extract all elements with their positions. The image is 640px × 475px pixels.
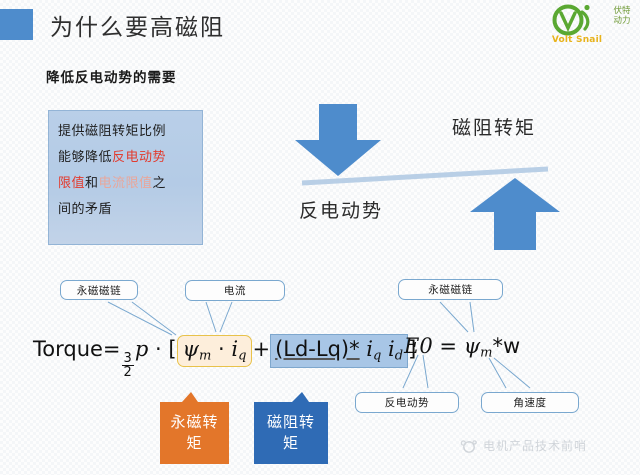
title-accent-square (0, 9, 33, 40)
fraction-numerator: 3 (122, 352, 134, 366)
info-panel: 提供磁阻转矩比例 能够降低反电动势 限值和电流限值之 间的矛盾 (48, 110, 203, 245)
callout-pm-flux-left: 永磁磁链 (60, 280, 138, 300)
reluctance-torque-term: (Ld-Lq)* iq id (270, 334, 408, 368)
slide-canvas: 为什么要高磁阻 降低反电动势的需要 Volt Snail 伏特动力 提供磁阻转矩… (0, 0, 640, 475)
fraction-denominator: 2 (122, 366, 134, 379)
torque-lhs: Torque= (33, 337, 121, 361)
e0-symbol: E0 (404, 334, 433, 358)
emf-star-w: *w (493, 334, 521, 358)
iq2-subscript: q (373, 349, 381, 364)
callout-current: 电流 (185, 280, 285, 301)
watermark-label: 电机产品技术前哨 (483, 437, 587, 454)
callout-pm-flux-right: 永磁磁链 (398, 279, 503, 300)
psi-subscript: m (199, 349, 211, 364)
id-subscript: d (395, 349, 403, 364)
balance-beam (300, 166, 550, 186)
torque-plus: + (252, 337, 270, 361)
ld-lq-symbol: (Ld-Lq)* (275, 337, 360, 361)
flag-reluctance-torque: 磁阻转矩 (254, 392, 328, 464)
label-reluctance-torque: 磁阻转矩 (452, 113, 536, 140)
torque-fraction: 32 (122, 352, 134, 380)
flag-reluctance-torque-label: 磁阻转矩 (254, 402, 328, 464)
id-symbol: i (388, 337, 395, 361)
torque-formula: Torque=32p · [ψm · iq+(Ld-Lq)* iq id] (33, 334, 416, 379)
label-back-emf: 反电动势 (299, 196, 383, 223)
callout-angular-velocity: 角速度 (481, 392, 579, 413)
pm-torque-term: ψm · iq (177, 335, 253, 367)
brand-logo: Volt Snail 伏特动力 (549, 4, 637, 52)
flag-pm-torque: 永磁转矩 (160, 392, 229, 464)
callout-pm-flux-right-label: 永磁磁链 (428, 282, 472, 297)
callout-pm-flux-left-label: 永磁磁链 (77, 283, 121, 298)
panel-line-4: 间的矛盾 (58, 197, 193, 223)
callout-angular-velocity-label: 角速度 (513, 395, 546, 410)
pm-term-dot: · (218, 337, 225, 361)
watermark-icon (460, 438, 478, 454)
section-subtitle: 降低反电动势的需要 (46, 66, 177, 86)
pole-pairs-symbol: p (135, 337, 148, 361)
panel-line-3: 限值和电流限值之 (58, 171, 193, 197)
logo-chinese-text: 伏特动力 (611, 6, 633, 26)
up-arrow-icon (470, 178, 560, 250)
panel-line-1: 提供磁阻转矩比例 (58, 119, 193, 145)
page-title: 为什么要高磁阻 (50, 8, 225, 42)
volt-snail-mark-icon (549, 4, 601, 38)
emf-psi-symbol: ψ (464, 334, 480, 358)
torque-dot: · (155, 337, 162, 361)
emf-equals: = (439, 334, 457, 358)
iq2-symbol: i (366, 337, 373, 361)
watermark: 电机产品技术前哨 (460, 437, 587, 454)
panel-line-2: 能够降低反电动势 (58, 145, 193, 171)
iq-subscript: q (238, 349, 246, 364)
callout-bemf: 反电动势 (355, 392, 459, 413)
emf-psi-subscript: m (480, 346, 492, 361)
torque-bracket-open: [ (168, 337, 176, 361)
flag-pm-torque-label: 永磁转矩 (160, 402, 229, 464)
logo-wordmark: Volt Snail (549, 35, 605, 45)
psi-symbol: ψ (183, 337, 199, 361)
callout-bemf-label: 反电动势 (385, 395, 429, 410)
emf-formula: E0 = ψm*w (404, 334, 520, 361)
callout-current-label: 电流 (224, 283, 246, 298)
